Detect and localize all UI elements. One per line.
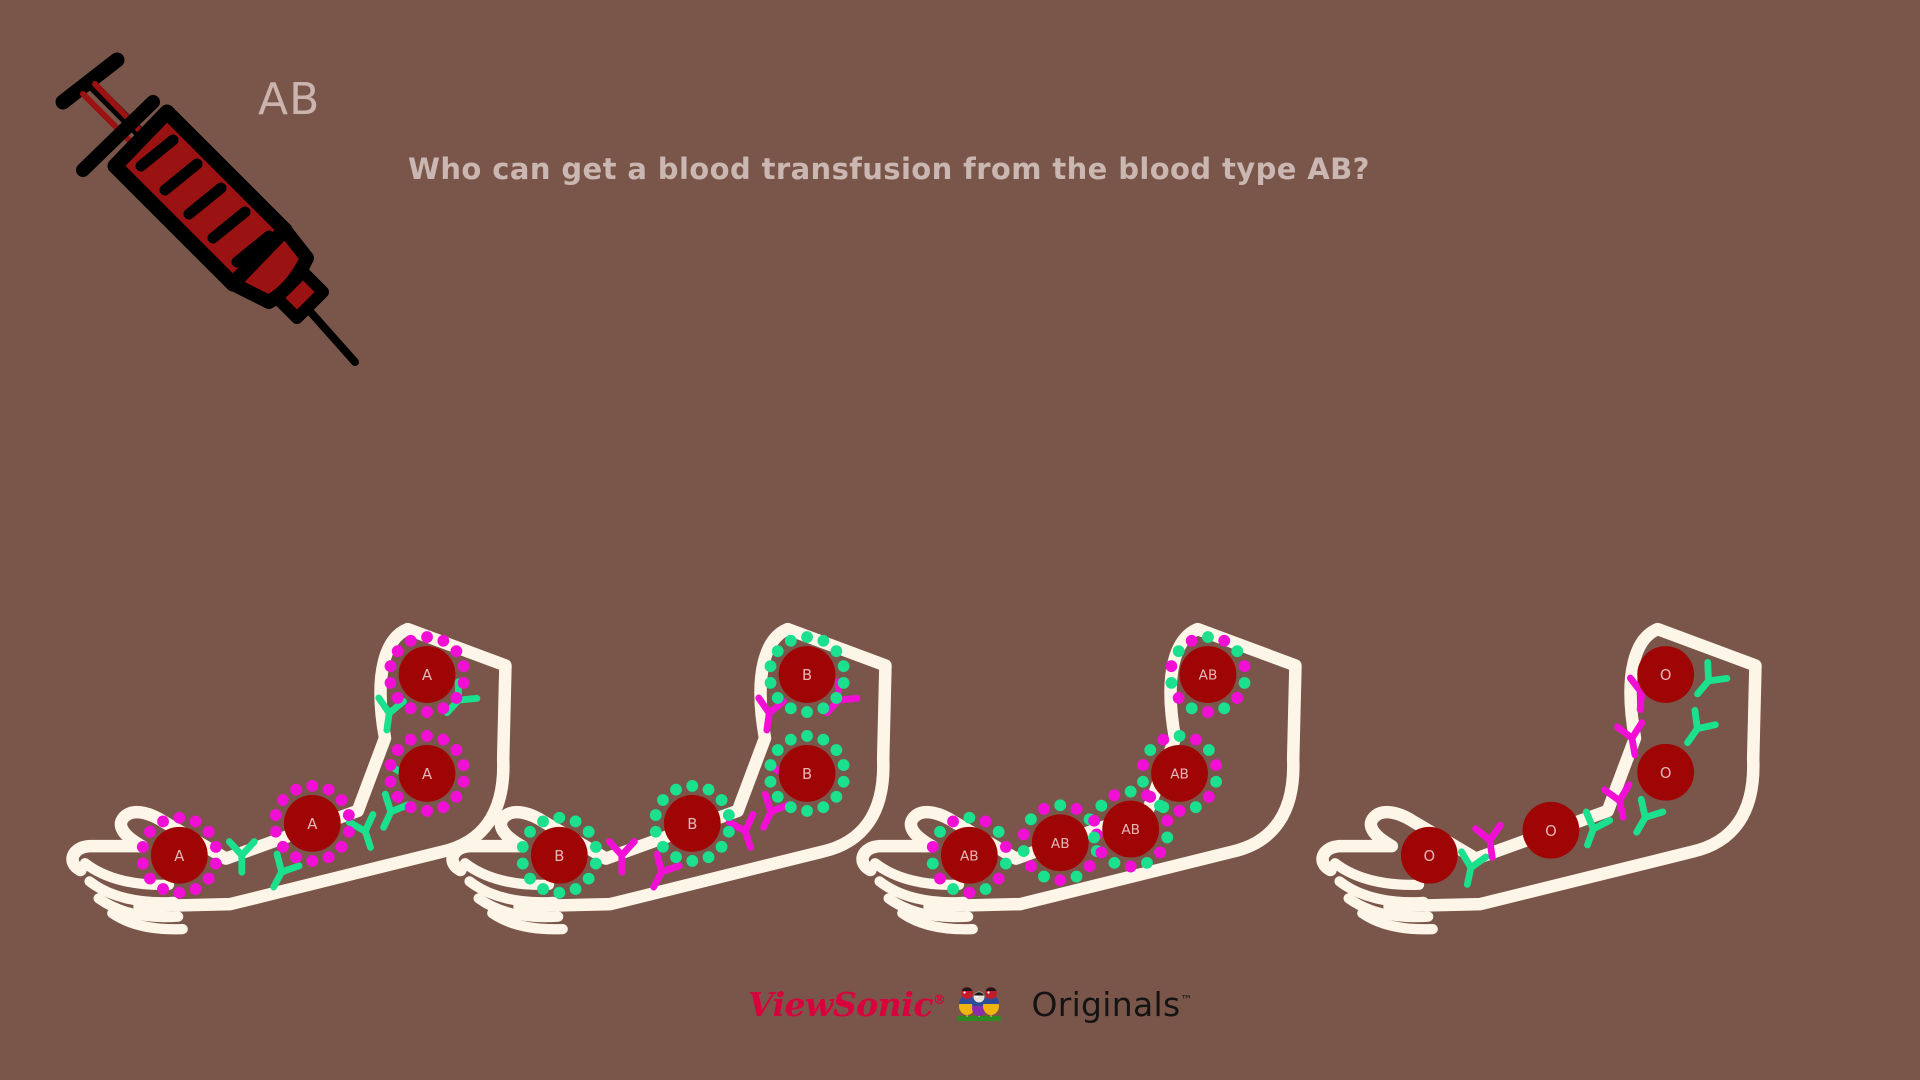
viewsonic-wordmark: ViewSonic®	[748, 988, 945, 1021]
antigen-dot	[963, 887, 975, 899]
antigen-dot	[517, 858, 529, 870]
antigen-dot	[524, 873, 536, 885]
antigen-dot	[1239, 660, 1251, 672]
antigen-dot	[963, 812, 975, 824]
antigen-dot	[323, 784, 335, 796]
blood-cell: O	[1637, 744, 1694, 801]
antigen-dot	[553, 812, 565, 824]
antigen-dot	[1173, 692, 1185, 704]
antigen-dot	[657, 841, 669, 853]
antigen-dot	[517, 841, 529, 853]
antigen-dot	[934, 826, 946, 838]
antigen-dot	[650, 826, 662, 838]
antigen-dot	[1054, 874, 1066, 886]
antigen-dot	[157, 883, 169, 895]
blood-cell-label: A	[174, 848, 184, 865]
antigen-dot	[392, 692, 404, 704]
antigen-dot	[1000, 841, 1012, 853]
antigen-dot	[1154, 847, 1166, 859]
antigen-dot	[1190, 801, 1202, 813]
antigen-dot	[537, 883, 549, 895]
antigen-dot	[670, 784, 682, 796]
antigen-dot	[590, 841, 602, 853]
antigen-dot	[1071, 803, 1083, 815]
antigen-dot	[1038, 871, 1050, 883]
antigen-dot	[173, 887, 185, 899]
blood-cell: B	[650, 780, 735, 867]
antigen-dot	[801, 730, 813, 742]
originals-text: Originals	[1031, 985, 1180, 1024]
antigen-dot	[670, 851, 682, 863]
antigen-dot	[1231, 645, 1243, 657]
antigen-dot	[1218, 702, 1230, 714]
three-finches-icon	[953, 982, 1005, 1026]
antigen-dot	[277, 794, 289, 806]
antigen-dot	[1157, 734, 1169, 746]
antigen-dot	[583, 826, 595, 838]
antigen-dot	[553, 887, 565, 899]
antigen-dot	[385, 776, 397, 788]
antigen-dot	[323, 851, 335, 863]
antigen-dot	[830, 692, 842, 704]
antigen-dot	[421, 631, 433, 643]
antigen-dot	[336, 794, 348, 806]
antigen-dot	[385, 660, 397, 672]
antigen-dot	[817, 734, 829, 746]
antigen-dot	[1165, 677, 1177, 689]
antigen-dot	[343, 826, 355, 838]
antigen-dot	[210, 841, 222, 853]
antigen-dot	[838, 776, 850, 788]
blood-cell-label: O	[1545, 823, 1557, 840]
antibody-icon	[1688, 662, 1727, 702]
antigen-dot	[817, 801, 829, 813]
antigen-dot	[583, 873, 595, 885]
blood-cell-label: B	[554, 848, 564, 865]
blood-cell-label: O	[1660, 667, 1672, 684]
antigen-dot	[947, 816, 959, 828]
blood-cell-label: O	[1424, 848, 1436, 865]
antigen-dot	[405, 801, 417, 813]
antigen-dot	[270, 826, 282, 838]
antigen-dot	[817, 702, 829, 714]
antigen-dot	[1165, 660, 1177, 672]
antigen-dot	[277, 841, 289, 853]
antigen-dot	[830, 645, 842, 657]
antigen-dot	[1174, 805, 1186, 817]
antigen-dot	[1137, 759, 1149, 771]
antigen-dot	[537, 816, 549, 828]
page-title: Who can get a blood transfusion from the…	[408, 152, 1370, 186]
antigen-dot	[657, 794, 669, 806]
antigen-dot	[980, 816, 992, 828]
antigen-dot	[405, 734, 417, 746]
antigen-dot	[686, 855, 698, 867]
antigen-dot	[801, 631, 813, 643]
antigen-dot	[1109, 857, 1121, 869]
arm-silhouette: ABABABABAB	[850, 560, 1350, 980]
registered-mark: ®	[933, 993, 946, 1008]
blood-cell-label: AB	[1199, 668, 1218, 684]
antigen-dot	[1141, 857, 1153, 869]
antigen-dot	[703, 784, 715, 796]
antigen-dot	[765, 759, 777, 771]
trademark-mark: ™	[1180, 993, 1192, 1007]
blood-cell-label: A	[422, 766, 432, 783]
antigen-dot	[1125, 861, 1137, 873]
antigen-dot	[524, 826, 536, 838]
antigen-dot	[203, 873, 215, 885]
arm-diagram-type-o: OOOO	[1310, 560, 1810, 980]
antigen-dot	[290, 784, 302, 796]
blood-cell-label: AB	[1051, 836, 1070, 852]
antigen-dot	[716, 841, 728, 853]
antigen-dot	[1018, 828, 1030, 840]
blood-cell-label: AB	[1121, 822, 1140, 838]
antigen-dot	[723, 826, 735, 838]
antigen-dot	[1218, 635, 1230, 647]
antigen-dot	[838, 660, 850, 672]
antigen-dot	[385, 759, 397, 771]
blood-cell-label: B	[802, 667, 812, 684]
antigen-dot	[1186, 635, 1198, 647]
antigen-dot	[1038, 803, 1050, 815]
antigen-dot	[838, 677, 850, 689]
antigen-dot	[306, 780, 318, 792]
antigen-dot	[1084, 860, 1096, 872]
antigen-dot	[405, 702, 417, 714]
blood-cell-label: A	[307, 816, 317, 833]
antigen-dot	[203, 826, 215, 838]
antigen-dot	[801, 805, 813, 817]
antigen-dot	[1202, 631, 1214, 643]
antigen-dot	[343, 809, 355, 821]
antigen-dot	[1161, 815, 1173, 827]
blood-cell: O	[1401, 827, 1458, 884]
antigen-dot	[590, 858, 602, 870]
antigen-dot	[716, 794, 728, 806]
blood-cell-label: B	[802, 766, 812, 783]
antigen-dot	[1025, 860, 1037, 872]
antigen-dot	[1210, 776, 1222, 788]
antigen-dot	[1202, 706, 1214, 718]
antigen-dot	[270, 809, 282, 821]
antigen-dot	[392, 645, 404, 657]
antigen-dot	[817, 635, 829, 647]
antigen-dot	[1161, 832, 1173, 844]
antigen-dot	[785, 635, 797, 647]
antigen-dot	[765, 660, 777, 672]
antigen-dot	[210, 858, 222, 870]
antigen-dot	[785, 702, 797, 714]
antigen-dot	[838, 759, 850, 771]
antigen-dot	[570, 883, 582, 895]
viewsonic-brand-text: ViewSonic	[748, 985, 933, 1024]
antigen-dot	[993, 873, 1005, 885]
antigen-dot	[392, 791, 404, 803]
antigen-dot	[1095, 800, 1107, 812]
antigen-dot	[830, 791, 842, 803]
antigen-dot	[1054, 799, 1066, 811]
antigen-dot	[144, 826, 156, 838]
blood-type-caption: AB	[258, 78, 320, 122]
antigen-dot	[1000, 858, 1012, 870]
blood-cell: O	[1637, 646, 1694, 703]
antigen-dot	[1018, 845, 1030, 857]
antigen-dot	[1144, 744, 1156, 756]
blood-cell-label: B	[687, 816, 697, 833]
antigen-dot	[1203, 791, 1215, 803]
antigen-dot	[686, 780, 698, 792]
antigen-dot	[190, 883, 202, 895]
antigen-dot	[290, 851, 302, 863]
antigen-dot	[1174, 730, 1186, 742]
blood-cell-label: AB	[960, 848, 979, 864]
antigen-dot	[1095, 847, 1107, 859]
antigen-dot	[765, 776, 777, 788]
antigen-dot	[993, 826, 1005, 838]
antigen-dot	[1203, 744, 1215, 756]
antigen-dot	[421, 805, 433, 817]
antigen-dot	[1210, 759, 1222, 771]
antigen-dot	[801, 706, 813, 718]
antigen-dot	[934, 873, 946, 885]
antigen-dot	[765, 677, 777, 689]
antigen-dot	[1157, 801, 1169, 813]
antigen-dot	[1088, 832, 1100, 844]
antigen-dot	[137, 841, 149, 853]
antigen-dot	[392, 744, 404, 756]
antigen-dot	[1137, 776, 1149, 788]
antigen-dot	[385, 677, 397, 689]
antigen-dot	[772, 645, 784, 657]
antigen-dot	[772, 692, 784, 704]
antigen-dot	[723, 809, 735, 821]
antigen-dot	[1071, 871, 1083, 883]
antigen-dot	[1231, 692, 1243, 704]
antigen-dot	[1186, 702, 1198, 714]
viewsonic-originals-logo: ViewSonic®	[748, 978, 1178, 1030]
arm-diagram-type-ab: ABABABABAB	[850, 560, 1350, 980]
antigen-dot	[772, 791, 784, 803]
antigen-dot	[405, 635, 417, 647]
antigen-dot	[785, 734, 797, 746]
antigen-dot	[772, 744, 784, 756]
slide-canvas: AB Who can get a blood transfusion from …	[0, 0, 1920, 1080]
antigen-dot	[980, 883, 992, 895]
antigen-dot	[830, 744, 842, 756]
arm-silhouette: OOOO	[1310, 560, 1810, 980]
antigen-dot	[173, 812, 185, 824]
syringe-icon	[55, 50, 395, 390]
antigen-dot	[306, 855, 318, 867]
antigen-dot	[1190, 734, 1202, 746]
antigen-dot	[157, 816, 169, 828]
antigen-dot	[1088, 815, 1100, 827]
antigen-dot	[421, 706, 433, 718]
antigen-dot	[336, 841, 348, 853]
antigen-dot	[650, 809, 662, 821]
antigen-dot	[1025, 813, 1037, 825]
antigen-dot	[785, 801, 797, 813]
antigen-dot	[1173, 645, 1185, 657]
blood-cell: O	[1523, 802, 1580, 859]
antigen-dot	[421, 730, 433, 742]
blood-cell: A	[270, 780, 355, 867]
antigen-dot	[1125, 786, 1137, 798]
antigen-dot	[927, 858, 939, 870]
antigen-dot	[137, 858, 149, 870]
antigen-dot	[144, 873, 156, 885]
blood-cell-label: O	[1660, 765, 1672, 782]
blood-cell: AB	[1018, 799, 1103, 886]
antigen-dot	[1239, 677, 1251, 689]
antigen-dot	[927, 841, 939, 853]
antigen-dot	[703, 851, 715, 863]
antigen-dot	[190, 816, 202, 828]
blood-cell-label: A	[422, 667, 432, 684]
originals-wordmark: Originals™	[1031, 988, 1192, 1021]
antigen-dot	[570, 816, 582, 828]
antigen-dot	[947, 883, 959, 895]
blood-cell-label: AB	[1170, 767, 1189, 783]
antibody-icon	[1626, 799, 1663, 838]
antibody-icon	[1677, 710, 1715, 749]
antigen-dot	[1109, 789, 1121, 801]
antigen-dot	[1144, 791, 1156, 803]
